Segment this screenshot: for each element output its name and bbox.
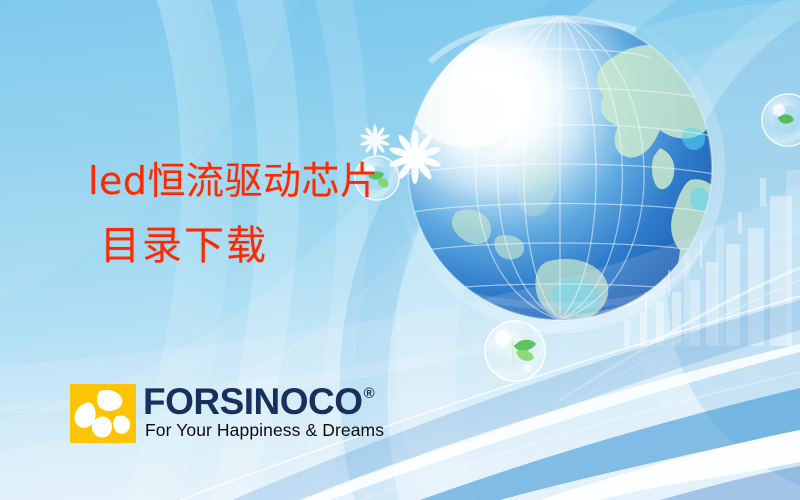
forsinoco-flower-mark-icon: [70, 384, 136, 443]
daisy-flower-large: [388, 130, 442, 184]
headline-text: led恒流驱动芯片 目录下载: [88, 162, 379, 266]
bubble-with-leaf: [485, 321, 545, 381]
bubble-with-globe-right: [762, 94, 800, 146]
logo-tagline: For Your Happiness & Dreams: [145, 421, 384, 440]
daisy-flower-small: [360, 125, 391, 156]
brand-logo: FORSINOCO ® For Your Happiness & Dreams: [70, 384, 384, 443]
headline-line-1: led恒流驱动芯片: [88, 162, 379, 200]
logo-wordmark-text: FORSINOCO: [143, 384, 363, 420]
logo-text-block: FORSINOCO ® For Your Happiness & Dreams: [143, 384, 384, 440]
logo-wordmark: FORSINOCO ®: [143, 384, 384, 420]
poster-canvas: led恒流驱动芯片 目录下载 FORSINOCO ® For Your Happ…: [0, 0, 800, 500]
registered-trademark-symbol: ®: [364, 386, 375, 401]
headline-line-2: 目录下载: [100, 226, 379, 266]
